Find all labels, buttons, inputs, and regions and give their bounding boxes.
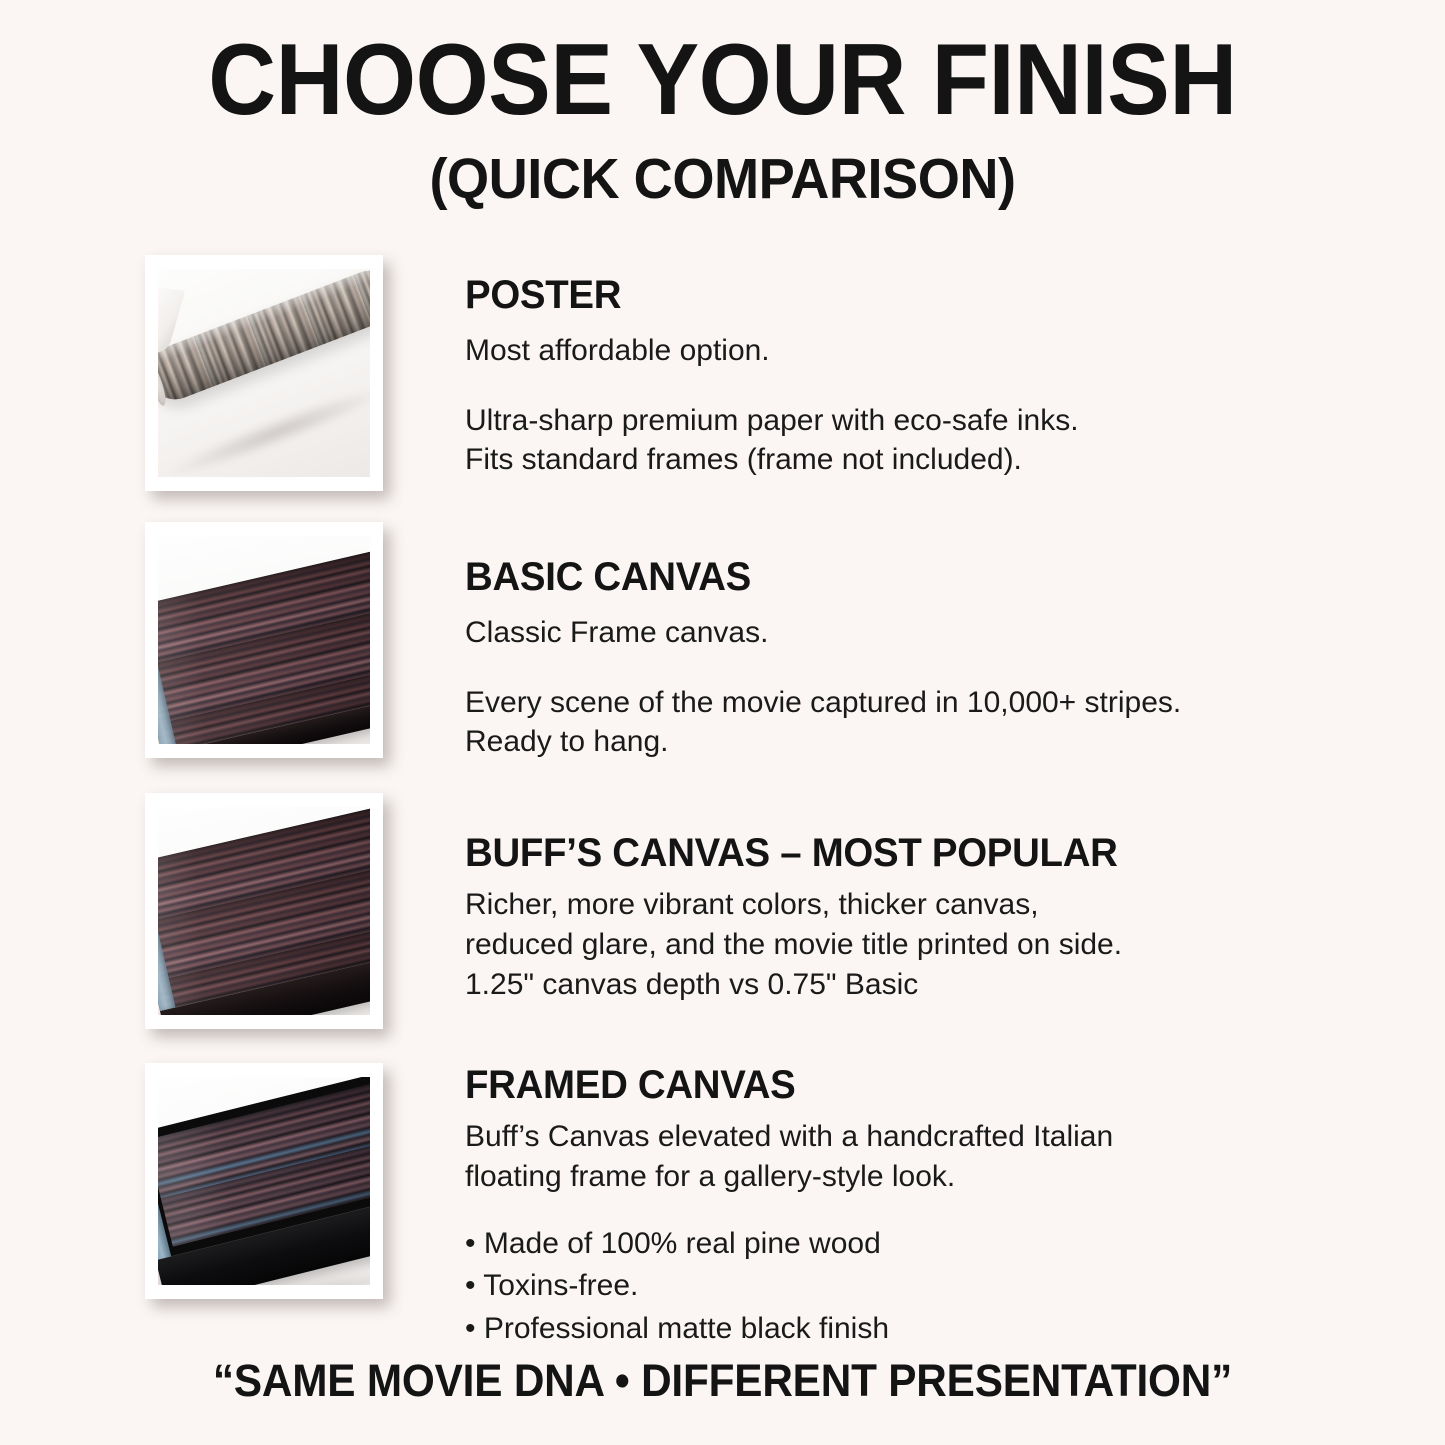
- section-title-basic-canvas: BASIC CANVAS: [465, 555, 1329, 599]
- buffs-canvas-text-block: BUFF’S CANVAS – MOST POPULAR Richer, mor…: [465, 831, 1365, 1005]
- finish-row-basic-canvas: BASIC CANVAS Classic Frame canvas. Every…: [0, 522, 1445, 772]
- poster-body-line-2: Fits standard frames (frame not included…: [465, 440, 1365, 480]
- page-title: CHOOSE YOUR FINISH: [51, 26, 1395, 135]
- basic-canvas-photo: [158, 536, 370, 744]
- list-item: • Made of 100% real pine wood: [465, 1223, 1365, 1266]
- basic-canvas-body-line-1: Every scene of the movie captured in 10,…: [465, 683, 1365, 723]
- finish-comparison-poster: CHOOSE YOUR FINISH (QUICK COMPARISON) PO…: [0, 0, 1445, 1445]
- section-title-framed-canvas: FRAMED CANVAS: [465, 1063, 1329, 1107]
- framed-canvas-frame: [158, 1077, 370, 1285]
- buffs-canvas-body-line-1: Richer, more vibrant colors, thicker can…: [465, 885, 1365, 925]
- buffs-canvas-body: Richer, more vibrant colors, thicker can…: [465, 885, 1365, 1005]
- poster-text-block: POSTER Most affordable option. Ultra-sha…: [465, 273, 1365, 480]
- buffs-canvas-photo: [158, 807, 370, 1015]
- framed-canvas-body-line-2: floating frame for a gallery-style look.: [465, 1157, 1365, 1197]
- buffs-canvas-photo-card: [145, 793, 383, 1029]
- poster-roll-shadow: [165, 379, 370, 477]
- framed-canvas-photo-card: [145, 1063, 383, 1299]
- poster-header: CHOOSE YOUR FINISH (QUICK COMPARISON): [0, 26, 1445, 213]
- finish-row-framed-canvas: FRAMED CANVAS Buff’s Canvas elevated wit…: [0, 1063, 1445, 1313]
- finish-row-buffs-canvas: BUFF’S CANVAS – MOST POPULAR Richer, mor…: [0, 793, 1445, 1043]
- basic-canvas-left-edge: [158, 604, 177, 744]
- framed-canvas-photo-backdrop: [158, 1077, 370, 1285]
- finish-row-poster: POSTER Most affordable option. Ultra-sha…: [0, 255, 1445, 505]
- basic-canvas-lead: Classic Frame canvas.: [465, 613, 1365, 653]
- framed-canvas-body-line-1: Buff’s Canvas elevated with a handcrafte…: [465, 1117, 1365, 1157]
- page-subtitle: (QUICK COMPARISON): [36, 147, 1409, 213]
- buffs-canvas-photo-backdrop: [158, 807, 370, 1015]
- section-title-buffs-canvas: BUFF’S CANVAS – MOST POPULAR: [465, 831, 1329, 875]
- list-item: • Professional matte black finish: [465, 1308, 1365, 1351]
- poster-body-line-1: Ultra-sharp premium paper with eco-safe …: [465, 401, 1365, 441]
- footer-tagline: “SAME MOVIE DNA • DIFFERENT PRESENTATION…: [43, 1355, 1401, 1407]
- buffs-canvas-body-line-2: reduced glare, and the movie title print…: [465, 925, 1365, 965]
- poster-lead: Most affordable option.: [465, 331, 1365, 371]
- framed-canvas-bullet-list: • Made of 100% real pine wood • Toxins-f…: [465, 1223, 1365, 1351]
- list-item: • Toxins-free.: [465, 1265, 1365, 1308]
- poster-body: Ultra-sharp premium paper with eco-safe …: [465, 401, 1365, 481]
- basic-canvas-body-line-2: Ready to hang.: [465, 722, 1365, 762]
- poster-roll: [158, 269, 370, 407]
- basic-canvas-photo-card: [145, 522, 383, 758]
- basic-canvas-text-block: BASIC CANVAS Classic Frame canvas. Every…: [465, 555, 1365, 762]
- poster-photo-backdrop: [158, 269, 370, 477]
- basic-canvas-slab: [158, 549, 370, 744]
- poster-roll-end: [158, 353, 170, 408]
- framed-canvas-body: Buff’s Canvas elevated with a handcrafte…: [465, 1117, 1365, 1197]
- buffs-canvas-slab: [158, 807, 370, 1015]
- framed-canvas-text-block: FRAMED CANVAS Buff’s Canvas elevated wit…: [465, 1063, 1365, 1351]
- framed-canvas-photo: [158, 1077, 370, 1285]
- basic-canvas-body: Every scene of the movie captured in 10,…: [465, 683, 1365, 763]
- buffs-canvas-left-edge: [158, 861, 176, 1011]
- rolled-poster-photo: [158, 269, 370, 477]
- section-title-poster: POSTER: [465, 273, 1329, 317]
- basic-canvas-photo-backdrop: [158, 536, 370, 744]
- buffs-canvas-body-line-3: 1.25" canvas depth vs 0.75" Basic: [465, 965, 1365, 1005]
- rolled-poster-photo-card: [145, 255, 383, 491]
